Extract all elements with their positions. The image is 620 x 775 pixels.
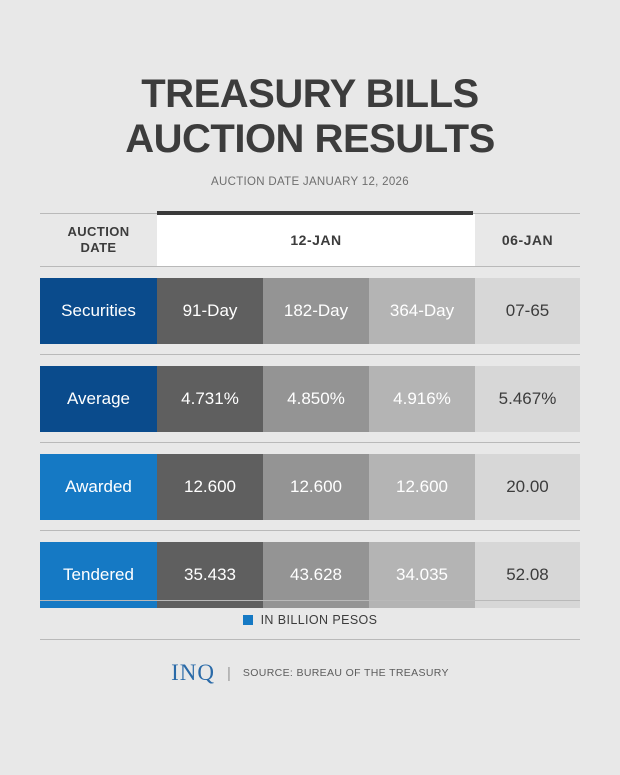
cell-average-previous: 5.467% <box>475 366 580 432</box>
source-attribution: INQ | SOURCE: BUREAU OF THE TREASURY <box>40 660 580 686</box>
page-title-line-1: TREASURY BILLS <box>0 72 620 117</box>
cell-tendered-182day: 43.628 <box>263 542 369 608</box>
inquirer-logo: INQ <box>171 660 215 686</box>
table-row: Tendered 35.433 43.628 34.035 52.08 <box>40 542 580 608</box>
cell-average-91day: 4.731% <box>157 366 263 432</box>
infographic-canvas: TREASURY BILLS AUCTION RESULTS AUCTION D… <box>0 0 620 775</box>
current-date-header: 12-JAN <box>157 214 475 266</box>
cell-awarded-previous: 20.00 <box>475 454 580 520</box>
cell-average-182day: 4.850% <box>263 366 369 432</box>
cell-tendered-91day: 35.433 <box>157 542 263 608</box>
cell-awarded-364day: 12.600 <box>369 454 475 520</box>
row-label-average: Average <box>40 366 157 432</box>
cell-awarded-91day: 12.600 <box>157 454 263 520</box>
table-row: Average 4.731% 4.850% 4.916% 5.467% <box>40 366 580 432</box>
legend: IN BILLION PESOS <box>40 600 580 640</box>
auction-date-header: AUCTION DATE <box>40 214 157 266</box>
cell-tendered-previous: 52.08 <box>475 542 580 608</box>
legend-bottom-rule <box>40 639 580 640</box>
auction-date-header-line-2: DATE <box>67 240 129 256</box>
results-table: AUCTION DATE 12-JAN 06-JAN Securities 91… <box>40 213 580 608</box>
row-label-securities: Securities <box>40 278 157 344</box>
header-spacer <box>40 267 580 278</box>
cell-securities-364day: 364-Day <box>369 278 475 344</box>
table-row: Awarded 12.600 12.600 12.600 20.00 <box>40 454 580 520</box>
cell-awarded-182day: 12.600 <box>263 454 369 520</box>
row-separator-rule <box>40 354 580 355</box>
cell-securities-previous: 07-65 <box>475 278 580 344</box>
row-separator-rule <box>40 442 580 443</box>
table-header-row: AUCTION DATE 12-JAN 06-JAN <box>40 214 580 266</box>
previous-date-header: 06-JAN <box>475 214 580 266</box>
cell-average-364day: 4.916% <box>369 366 475 432</box>
auction-date-header-line-1: AUCTION <box>67 224 129 240</box>
cell-tendered-364day: 34.035 <box>369 542 475 608</box>
title-block: TREASURY BILLS AUCTION RESULTS AUCTION D… <box>0 0 620 188</box>
cell-securities-91day: 91-Day <box>157 278 263 344</box>
source-label: SOURCE: BUREAU OF THE TREASURY <box>243 667 449 679</box>
current-period-accent-bar <box>157 211 473 215</box>
page-subtitle: AUCTION DATE JANUARY 12, 2026 <box>0 176 620 188</box>
row-separator-rule <box>40 530 580 531</box>
page-title-line-2: AUCTION RESULTS <box>0 117 620 162</box>
row-label-tendered: Tendered <box>40 542 157 608</box>
footer-divider: | <box>227 665 231 682</box>
legend-label: IN BILLION PESOS <box>261 613 378 627</box>
cell-securities-182day: 182-Day <box>263 278 369 344</box>
row-label-awarded: Awarded <box>40 454 157 520</box>
table-row: Securities 91-Day 182-Day 364-Day 07-65 <box>40 278 580 344</box>
legend-swatch-icon <box>243 615 253 625</box>
